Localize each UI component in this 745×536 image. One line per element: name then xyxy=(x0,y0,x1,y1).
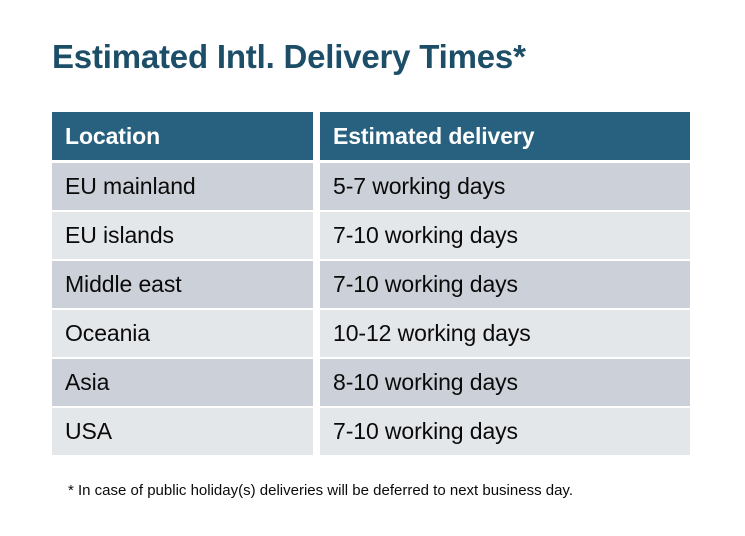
table-cell-location-text: USA xyxy=(65,418,112,445)
table-cell-delivery: 7-10 working days xyxy=(320,261,690,308)
table-cell-delivery: 7-10 working days xyxy=(320,212,690,259)
table-row: EU mainland 5-7 working days xyxy=(52,163,690,210)
table-cell-location: EU islands xyxy=(52,212,313,259)
table-cell-location: Asia xyxy=(52,359,313,406)
table-cell-delivery: 5-7 working days xyxy=(320,163,690,210)
page-title: Estimated Intl. Delivery Times* xyxy=(52,36,526,78)
table-row: Asia 8-10 working days xyxy=(52,359,690,406)
table-cell-location-text: Asia xyxy=(65,369,109,396)
table-header-label-location: Location xyxy=(65,123,160,150)
table-cell-delivery-text: 7-10 working days xyxy=(333,222,518,249)
table-header-row: Location Estimated delivery xyxy=(52,112,690,160)
table-cell-delivery-text: 7-10 working days xyxy=(333,418,518,445)
footnote: * In case of public holiday(s) deliverie… xyxy=(68,481,573,501)
table-cell-delivery: 8-10 working days xyxy=(320,359,690,406)
table-header-label-estimated-delivery: Estimated delivery xyxy=(333,123,534,150)
table-cell-location-text: EU mainland xyxy=(65,173,196,200)
table-cell-location: Middle east xyxy=(52,261,313,308)
table-row: Oceania 10-12 working days xyxy=(52,310,690,357)
estimated-delivery-times-table: Location Estimated delivery EU mainland … xyxy=(52,112,690,457)
table-cell-delivery-text: 8-10 working days xyxy=(333,369,518,396)
delivery-times-panel: Estimated Intl. Delivery Times* Location… xyxy=(0,0,745,536)
table-cell-location-text: Middle east xyxy=(65,271,182,298)
table-cell-delivery: 10-12 working days xyxy=(320,310,690,357)
table-header-cell-estimated-delivery: Estimated delivery xyxy=(320,112,690,160)
table-cell-location-text: Oceania xyxy=(65,320,150,347)
table-cell-location: Oceania xyxy=(52,310,313,357)
table-cell-delivery: 7-10 working days xyxy=(320,408,690,455)
table-row: Middle east 7-10 working days xyxy=(52,261,690,308)
table-row: USA 7-10 working days xyxy=(52,408,690,455)
table-header-cell-location: Location xyxy=(52,112,313,160)
table-cell-delivery-text: 7-10 working days xyxy=(333,271,518,298)
table-cell-location-text: EU islands xyxy=(65,222,174,249)
table-cell-location: USA xyxy=(52,408,313,455)
table-cell-delivery-text: 5-7 working days xyxy=(333,173,505,200)
table-cell-location: EU mainland xyxy=(52,163,313,210)
table-cell-delivery-text: 10-12 working days xyxy=(333,320,531,347)
table-row: EU islands 7-10 working days xyxy=(52,212,690,259)
